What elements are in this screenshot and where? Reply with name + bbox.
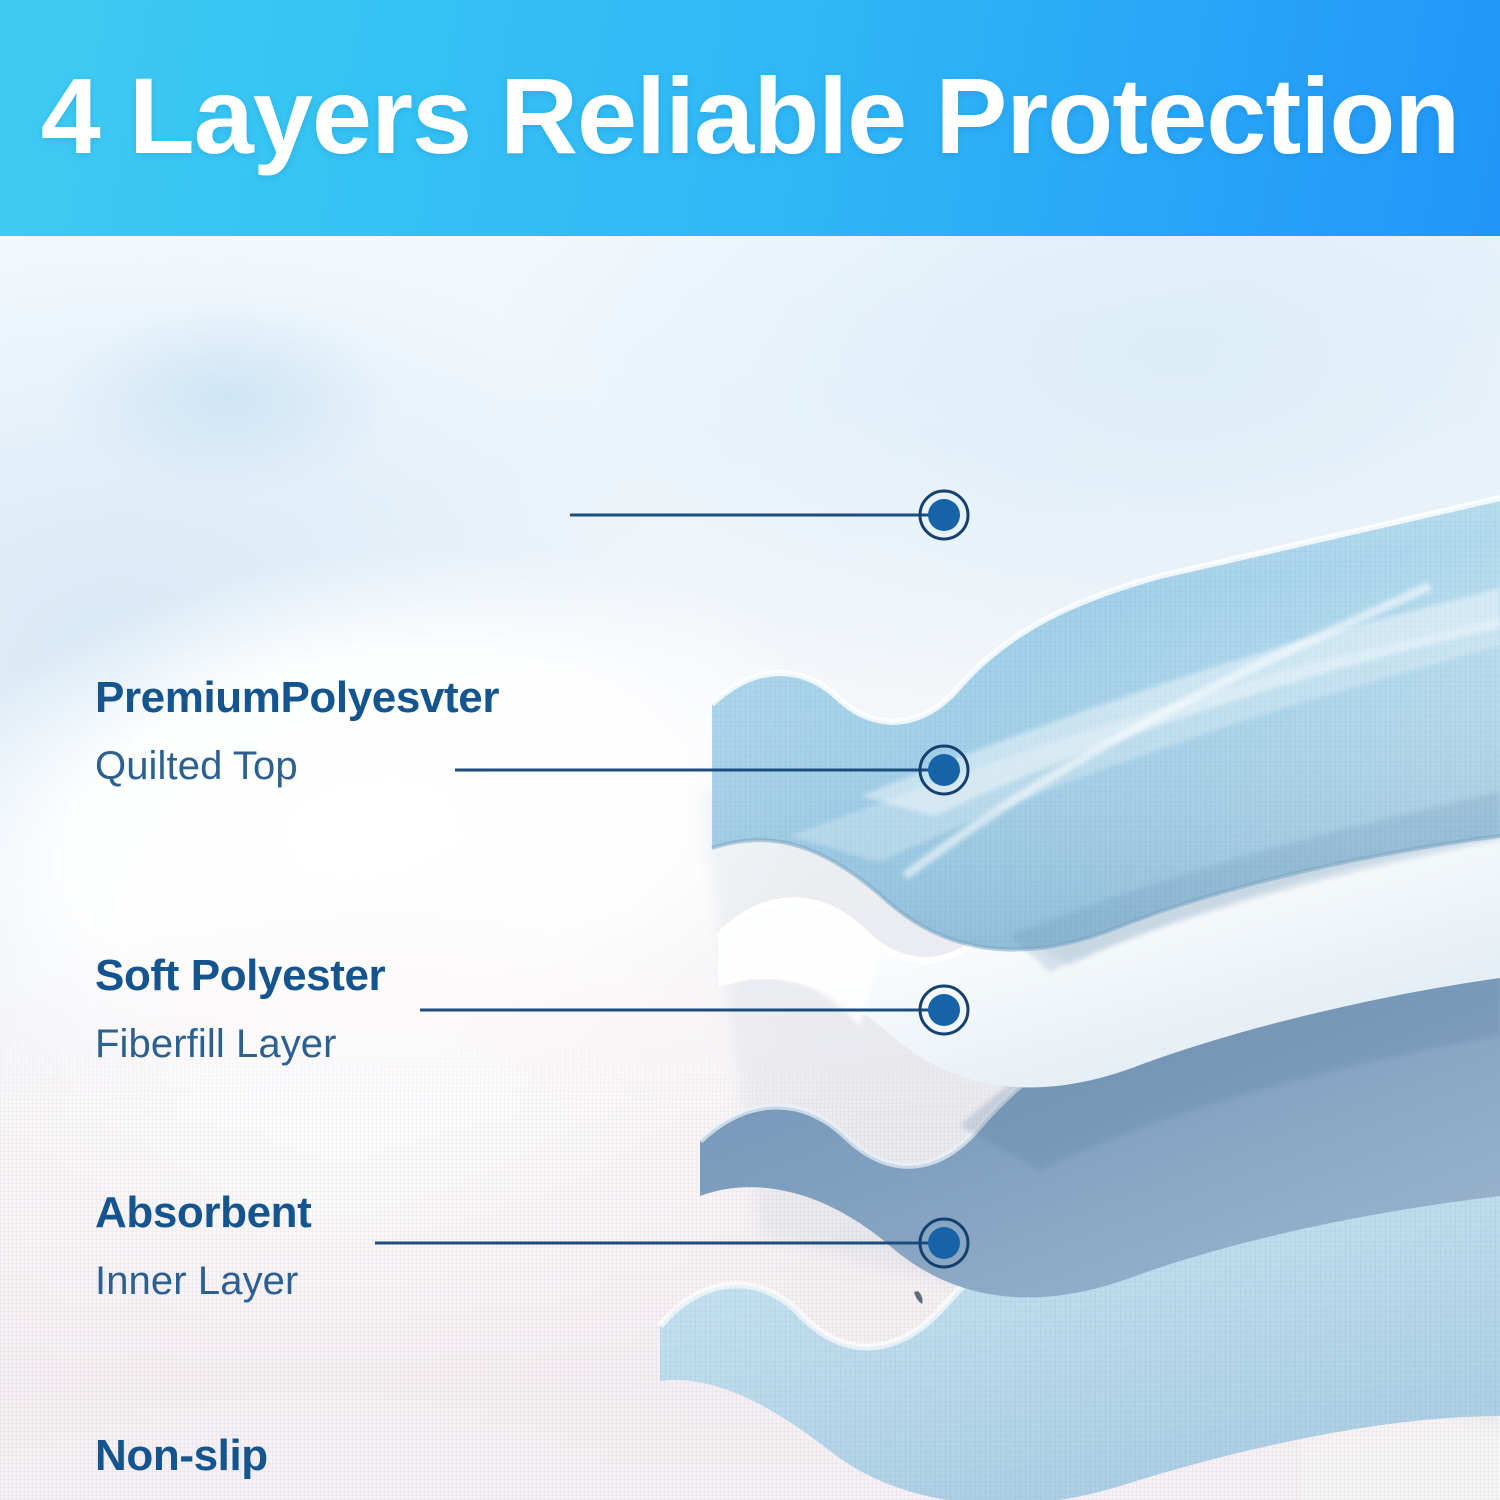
header-banner: 4 Layers Reliable Protection (0, 0, 1500, 236)
callout-title: PremiumPolyesvter (95, 676, 499, 720)
callout-non-slip: Non-slip Waterproof Barrier (95, 1434, 424, 1500)
callout-subtitle: Quilted Top (95, 746, 499, 786)
callout-soft-polyester: Soft Polyester Fiberfill Layer (95, 954, 385, 1064)
layered-fabric-image (0, 236, 1500, 1500)
callout-title: Non-slip (95, 1434, 424, 1478)
callout-title: Absorbent (95, 1191, 311, 1235)
callout-title: Soft Polyester (95, 954, 385, 998)
callout-absorbent: Absorbent Inner Layer (95, 1191, 311, 1301)
product-illustration-stage: PremiumPolyesvter Quilted Top Soft Polye… (0, 236, 1500, 1500)
page-title: 4 Layers Reliable Protection (0, 53, 1500, 178)
callout-subtitle: Inner Layer (95, 1261, 311, 1301)
callout-subtitle: Fiberfill Layer (95, 1024, 385, 1064)
callout-premium-polyester: PremiumPolyesvter Quilted Top (95, 676, 499, 786)
